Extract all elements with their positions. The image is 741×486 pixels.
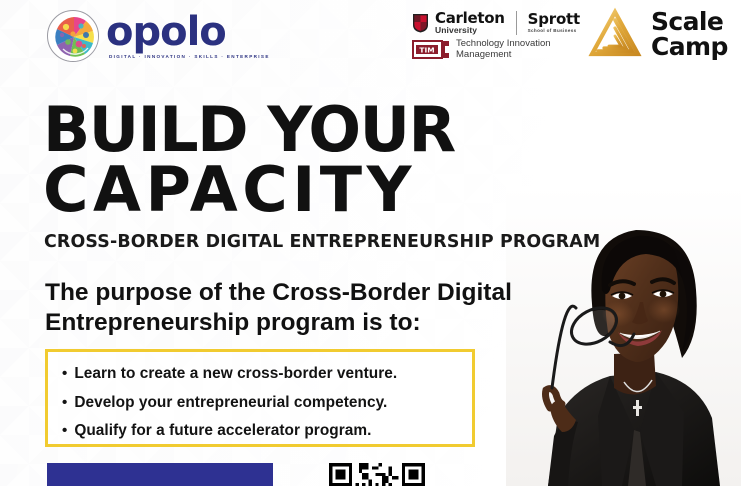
qr-code[interactable]: [329, 463, 425, 486]
carleton-name-block: Carleton University: [435, 11, 505, 35]
footer-blue-bar[interactable]: [47, 463, 273, 486]
list-item: • Learn to create a new cross-border ven…: [62, 360, 472, 389]
scale-camp-line-1: Scale: [651, 9, 728, 34]
benefits-box: • Learn to create a new cross-border ven…: [45, 349, 475, 447]
list-item: • Qualify for a future accelerator progr…: [62, 417, 472, 446]
carleton-name: Carleton: [435, 11, 505, 26]
carleton-shield-icon: [412, 13, 429, 33]
purpose-paragraph: The purpose of the Cross-Border Digital …: [45, 278, 600, 338]
opolo-brain-circle-icon: [47, 10, 99, 62]
sprott-subname: School of Business: [528, 29, 580, 34]
scale-camp-wordmark: Scale Camp: [651, 9, 728, 59]
bullet-icon: •: [62, 360, 67, 389]
tim-name-block: Technology Innovation Management: [456, 39, 551, 60]
sprott-name-block: Sprott School of Business: [528, 12, 580, 34]
svg-text:TIM: TIM: [419, 45, 434, 54]
opolo-tagline: DIGITAL · INNOVATION · SKILLS · ENTERPRI…: [106, 54, 270, 59]
scale-camp-triangle-logo: [586, 6, 644, 62]
tim-row: TIM Technology Innovation Management: [412, 39, 580, 60]
opolo-text-block: opolo DIGITAL · INNOVATION · SKILLS · EN…: [106, 14, 270, 59]
poster-root: opolo DIGITAL · INNOVATION · SKILLS · EN…: [0, 0, 741, 486]
carleton-university-row: Carleton University Sprott School of Bus…: [412, 11, 580, 35]
headline-line-2: CAPACITY: [43, 160, 455, 220]
logo-divider: [516, 11, 517, 35]
tim-badge-icon: TIM: [412, 40, 450, 59]
carleton-sprott-logo[interactable]: Carleton University Sprott School of Bus…: [412, 11, 580, 60]
opolo-wordmark: opolo: [106, 14, 270, 50]
carleton-subname: University: [435, 26, 505, 35]
scale-camp-logo[interactable]: Scale Camp: [586, 6, 728, 62]
bullet-icon: •: [62, 417, 67, 446]
list-item-label: Learn to create a new cross-border ventu…: [74, 360, 397, 389]
opolo-logo[interactable]: opolo DIGITAL · INNOVATION · SKILLS · EN…: [47, 10, 270, 62]
headline-block: BUILD YOUR CAPACITY: [43, 100, 455, 220]
tim-line-2: Management: [456, 50, 551, 61]
headline-line-1: BUILD YOUR: [43, 100, 455, 160]
sprott-name: Sprott: [528, 12, 580, 27]
bullet-icon: •: [62, 389, 67, 418]
list-item-label: Qualify for a future accelerator program…: [74, 417, 371, 446]
scale-camp-line-2: Camp: [651, 34, 728, 59]
list-item: • Develop your entrepreneurial competenc…: [62, 389, 472, 418]
tim-line-1: Technology Innovation: [456, 39, 551, 50]
list-item-label: Develop your entrepreneurial competency.: [74, 389, 387, 418]
header-logo-bar: opolo DIGITAL · INNOVATION · SKILLS · EN…: [0, 0, 741, 86]
subheadline: CROSS-BORDER DIGITAL ENTREPRENEURSHIP PR…: [44, 232, 600, 252]
